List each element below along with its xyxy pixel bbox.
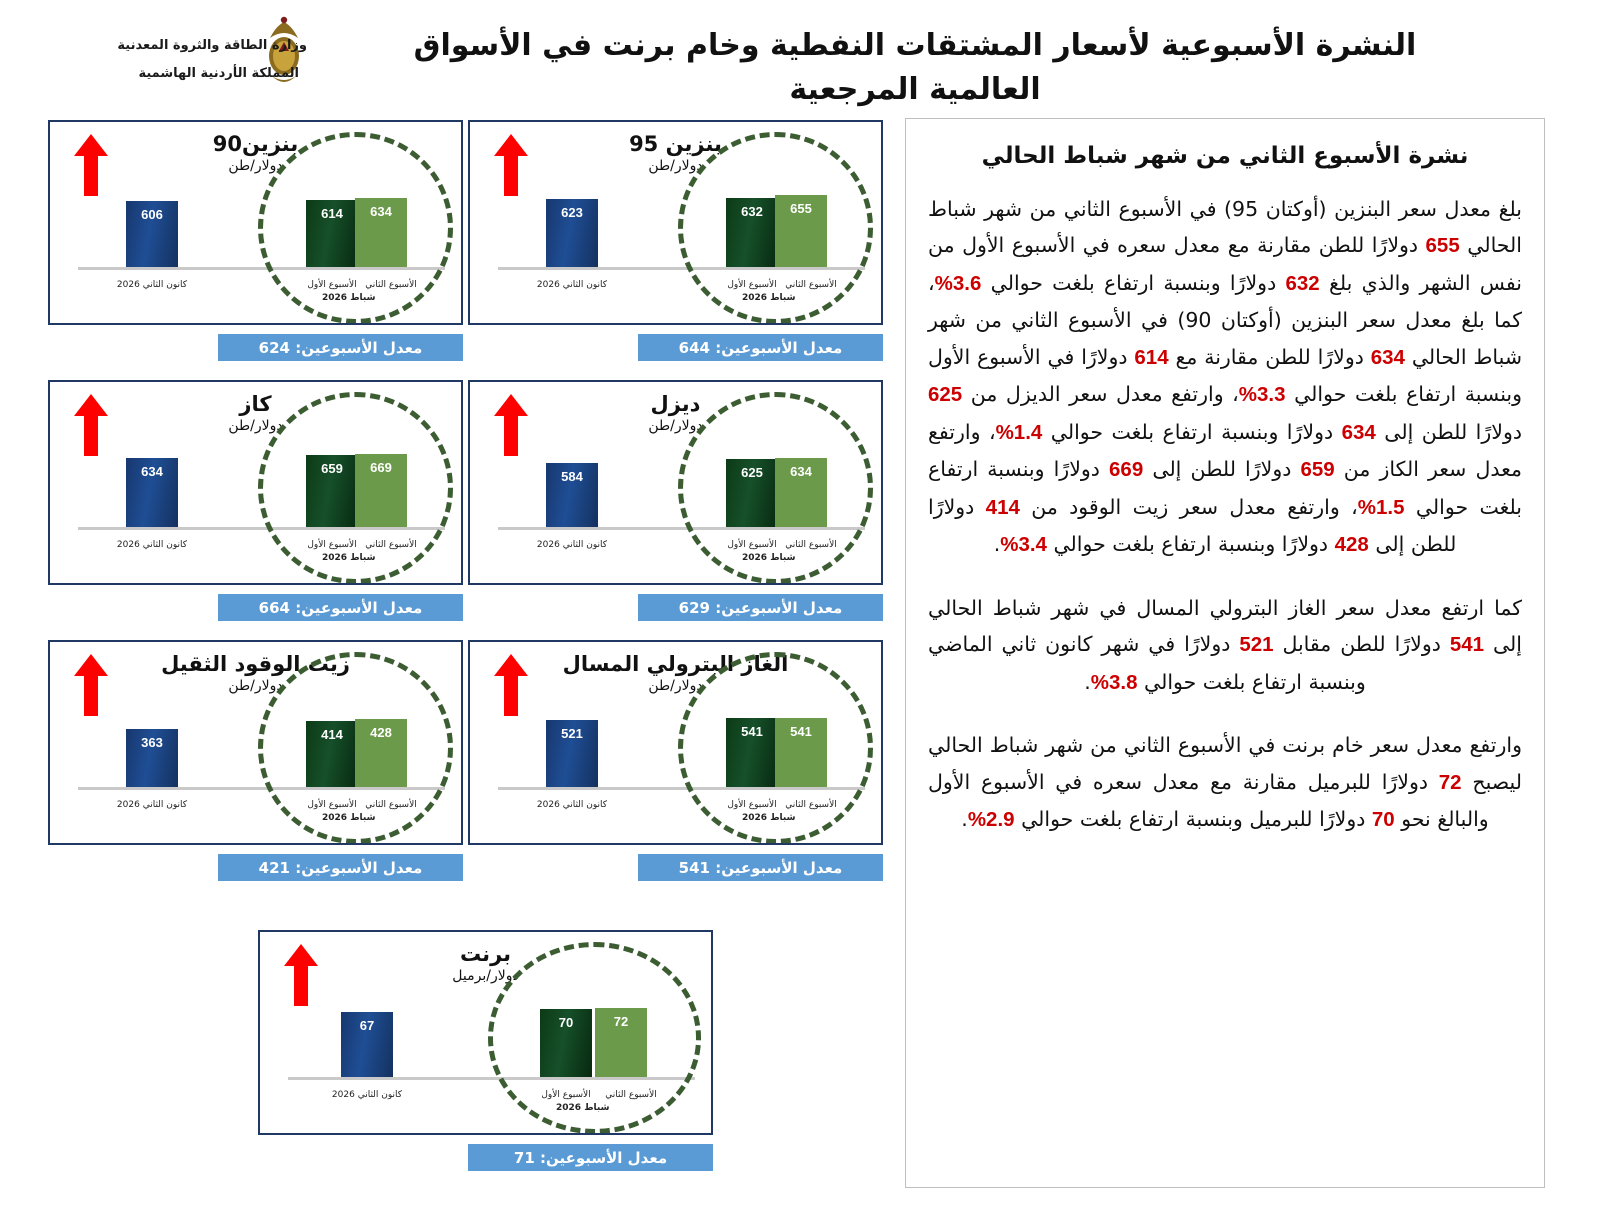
chart-unit-brent: دولار/برميل	[260, 968, 711, 984]
ministry-logo: وزارة الطاقة والثروة المعدنية المملكة ال…	[110, 14, 315, 109]
highlighted-value: 541	[1450, 633, 1484, 656]
report-body: بلغ معدل سعر البنزين (أوكتان 95) في الأس…	[928, 191, 1522, 839]
axis-label-heavy-fuel-oil-week1: الأسبوع الأول	[298, 800, 366, 810]
report-paragraph-p1: بلغ معدل سعر البنزين (أوكتان 95) في الأس…	[928, 191, 1522, 564]
chart-title-lpg: الغاز البترولي المسال دولار/طن	[470, 652, 881, 694]
report-text: دولارًا وبنسبة ارتفاع بلغت حوالي	[1042, 420, 1341, 444]
average-banner-kerosene: معدل الأسبوعين: 664	[218, 594, 463, 621]
highlighted-value: 625	[928, 383, 962, 406]
highlighted-value: 655	[1426, 234, 1460, 257]
x-axis-gasoline-95	[498, 267, 865, 270]
plot-area-heavy-fuel-oil: 363414428 كانون الثاني 2026 الأسبوع الأو…	[78, 700, 445, 818]
highlighted-value: 521	[1239, 633, 1273, 656]
axis-label-gasoline-90-jan: كانون الثاني 2026	[96, 280, 208, 290]
axis-label-kerosene-week1: الأسبوع الأول	[298, 540, 366, 550]
highlighted-value: 659	[1300, 458, 1334, 481]
axis-label-brent-feb: شباط 2026	[556, 1103, 609, 1113]
highlighted-value: 2.9%	[968, 808, 1015, 831]
plot-area-gasoline-90: 606614634 كانون الثاني 2026 الأسبوع الأو…	[78, 180, 445, 298]
bar-heavy-fuel-oil-2: 428	[355, 719, 407, 787]
bar-gasoline-95-1: 632	[726, 198, 778, 267]
report-text: ، وارتفع معدل سعر زيت الوقود من	[1020, 495, 1358, 519]
report-paragraph-p2: كما ارتفع معدل سعر الغاز البترولي المسال…	[928, 590, 1522, 701]
axis-label-diesel-week2: الأسبوع الثاني	[777, 540, 845, 550]
bar-heavy-fuel-oil-0: 363	[126, 729, 178, 787]
bar-kerosene-0: 634	[126, 458, 178, 527]
axis-label-diesel-feb: شباط 2026	[742, 553, 795, 563]
plot-area-brent: 677072 كانون الثاني 2026 الأسبوع الأول ا…	[288, 990, 695, 1108]
x-axis-brent	[288, 1077, 695, 1080]
chart-unit-diesel: دولار/طن	[470, 418, 881, 434]
highlighted-value: 614	[1134, 346, 1168, 369]
bar-lpg-2: 541	[775, 718, 827, 787]
highlighted-value: 1.5%	[1358, 496, 1405, 519]
plot-area-diesel: 584625634 كانون الثاني 2026 الأسبوع الأو…	[498, 440, 865, 558]
logo-kingdom-name: المملكة الأردنية الهاشمية	[138, 66, 299, 81]
logo-ministry-name: وزارة الطاقة والثروة المعدنية	[117, 38, 307, 53]
report-text: دولارًا للطن إلى	[1376, 420, 1522, 444]
x-axis-lpg	[498, 787, 865, 790]
x-axis-diesel	[498, 527, 865, 530]
axis-label-heavy-fuel-oil-jan: كانون الثاني 2026	[96, 800, 208, 810]
axis-label-lpg-week1: الأسبوع الأول	[718, 800, 786, 810]
charts-grid: بنزين90 دولار/طن 606614634 كانون الثاني …	[0, 112, 900, 1226]
page-header: النشرة الأسبوعية لأسعار المشتقات النفطية…	[0, 0, 1600, 112]
chart-border-gasoline-90: بنزين90 دولار/طن 606614634 كانون الثاني …	[48, 120, 463, 325]
chart-title-gasoline-90: بنزين90 دولار/طن	[50, 132, 461, 174]
bar-gasoline-90-2: 634	[355, 198, 407, 267]
axis-label-lpg-week2: الأسبوع الثاني	[777, 800, 845, 810]
highlighted-value: 3.6%	[935, 272, 982, 295]
highlighted-value: 414	[986, 496, 1020, 519]
chart-unit-gasoline-90: دولار/طن	[50, 158, 461, 174]
report-text: دولارًا للطن إلى	[1143, 457, 1300, 481]
axis-label-lpg-feb: شباط 2026	[742, 813, 795, 823]
report-heading: نشرة الأسبوع الثاني من شهر شباط الحالي	[928, 143, 1522, 169]
axis-label-gasoline-90-feb: شباط 2026	[322, 293, 375, 303]
bar-lpg-0: 521	[546, 720, 598, 787]
report-text: دولارًا للطن مقابل	[1274, 632, 1450, 656]
axis-label-gasoline-95-jan: كانون الثاني 2026	[516, 280, 628, 290]
average-banner-lpg: معدل الأسبوعين: 541	[638, 854, 883, 881]
bar-diesel-0: 584	[546, 463, 598, 527]
report-text: دولارًا للبرميل وبنسبة ارتفاع بلغت حوالي	[1015, 807, 1372, 831]
average-banner-gasoline-95: معدل الأسبوعين: 644	[638, 334, 883, 361]
chart-title-kerosene: كاز دولار/طن	[50, 392, 461, 434]
chart-unit-kerosene: دولار/طن	[50, 418, 461, 434]
bar-diesel-2: 634	[775, 458, 827, 527]
chart-border-kerosene: كاز دولار/طن 634659669 كانون الثاني 2026…	[48, 380, 463, 585]
chart-unit-heavy-fuel-oil: دولار/طن	[50, 678, 461, 694]
x-axis-heavy-fuel-oil	[78, 787, 445, 790]
chart-title-heavy-fuel-oil: زيت الوقود الثقيل دولار/طن	[50, 652, 461, 694]
highlighted-value: 632	[1285, 272, 1319, 295]
axis-label-gasoline-95-week2: الأسبوع الثاني	[777, 280, 845, 290]
axis-label-gasoline-90-week2: الأسبوع الثاني	[357, 280, 425, 290]
bar-diesel-1: 625	[726, 459, 778, 527]
bar-gasoline-90-0: 606	[126, 201, 178, 267]
report-paragraph-p3: وارتفع معدل سعر خام برنت في الأسبوع الثا…	[928, 727, 1522, 838]
report-text: ، وارتفع معدل سعر الديزل من	[962, 382, 1239, 406]
chart-title-brent: برنت دولار/برميل	[260, 942, 711, 984]
chart-border-brent: برنت دولار/برميل 677072 كانون الثاني 202…	[258, 930, 713, 1135]
axis-label-gasoline-95-week1: الأسبوع الأول	[718, 280, 786, 290]
axis-label-gasoline-95-feb: شباط 2026	[742, 293, 795, 303]
plot-area-gasoline-95: 623632655 كانون الثاني 2026 الأسبوع الأو…	[498, 180, 865, 298]
x-axis-kerosene	[78, 527, 445, 530]
page-title: النشرة الأسبوعية لأسعار المشتقات النفطية…	[370, 24, 1460, 111]
bar-kerosene-2: 669	[355, 454, 407, 527]
highlighted-value: 634	[1342, 421, 1376, 444]
chart-title-diesel: ديزل دولار/طن	[470, 392, 881, 434]
x-axis-gasoline-90	[78, 267, 445, 270]
average-banner-gasoline-90: معدل الأسبوعين: 624	[218, 334, 463, 361]
bar-gasoline-95-0: 623	[546, 199, 598, 267]
bar-heavy-fuel-oil-1: 414	[306, 721, 358, 787]
highlighted-value: 3.8%	[1091, 671, 1138, 694]
chart-title-gasoline-95: بنزين 95 دولار/طن	[470, 132, 881, 174]
axis-label-heavy-fuel-oil-feb: شباط 2026	[322, 813, 375, 823]
highlighted-value: 3.3%	[1239, 383, 1286, 406]
bar-brent-2: 72	[595, 1008, 647, 1077]
axis-label-kerosene-feb: شباط 2026	[322, 553, 375, 563]
highlighted-value: 428	[1335, 533, 1369, 556]
axis-label-diesel-jan: كانون الثاني 2026	[516, 540, 628, 550]
chart-border-diesel: ديزل دولار/طن 584625634 كانون الثاني 202…	[468, 380, 883, 585]
axis-label-kerosene-week2: الأسبوع الثاني	[357, 540, 425, 550]
bar-brent-0: 67	[341, 1012, 393, 1077]
report-text: دولارًا وبنسبة ارتفاع بلغت حوالي	[981, 271, 1285, 295]
highlighted-value: 70	[1372, 808, 1395, 831]
highlighted-value: 634	[1371, 346, 1405, 369]
highlighted-value: 1.4%	[996, 421, 1043, 444]
bar-lpg-1: 541	[726, 718, 778, 787]
bar-kerosene-1: 659	[306, 455, 358, 527]
report-text: دولارًا وبنسبة ارتفاع بلغت حوالي	[1047, 532, 1335, 556]
plot-area-lpg: 521541541 كانون الثاني 2026 الأسبوع الأو…	[498, 700, 865, 818]
average-banner-heavy-fuel-oil: معدل الأسبوعين: 421	[218, 854, 463, 881]
bar-gasoline-95-2: 655	[775, 195, 827, 267]
axis-label-brent-week2: الأسبوع الثاني	[597, 1090, 665, 1100]
average-banner-brent: معدل الأسبوعين: 71	[468, 1144, 713, 1171]
axis-label-lpg-jan: كانون الثاني 2026	[516, 800, 628, 810]
highlighted-value: 669	[1109, 458, 1143, 481]
chart-unit-lpg: دولار/طن	[470, 678, 881, 694]
bar-gasoline-90-1: 614	[306, 200, 358, 267]
chart-border-heavy-fuel-oil: زيت الوقود الثقيل دولار/طن 363414428 كان…	[48, 640, 463, 845]
report-panel: نشرة الأسبوع الثاني من شهر شباط الحالي ب…	[905, 118, 1545, 1188]
plot-area-kerosene: 634659669 كانون الثاني 2026 الأسبوع الأو…	[78, 440, 445, 558]
report-text: دولارًا للطن مقارنة مع	[1169, 345, 1371, 369]
axis-label-heavy-fuel-oil-week2: الأسبوع الثاني	[357, 800, 425, 810]
axis-label-gasoline-90-week1: الأسبوع الأول	[298, 280, 366, 290]
chart-border-lpg: الغاز البترولي المسال دولار/طن 521541541…	[468, 640, 883, 845]
axis-label-kerosene-jan: كانون الثاني 2026	[96, 540, 208, 550]
average-banner-diesel: معدل الأسبوعين: 629	[638, 594, 883, 621]
chart-unit-gasoline-95: دولار/طن	[470, 158, 881, 174]
axis-label-brent-week1: الأسبوع الأول	[532, 1090, 600, 1100]
highlighted-value: 3.4%	[1000, 533, 1047, 556]
chart-border-gasoline-95: بنزين 95 دولار/طن 623632655 كانون الثاني…	[468, 120, 883, 325]
axis-label-brent-jan: كانون الثاني 2026	[311, 1090, 423, 1100]
bar-brent-1: 70	[540, 1009, 592, 1077]
axis-label-diesel-week1: الأسبوع الأول	[718, 540, 786, 550]
highlighted-value: 72	[1439, 771, 1462, 794]
